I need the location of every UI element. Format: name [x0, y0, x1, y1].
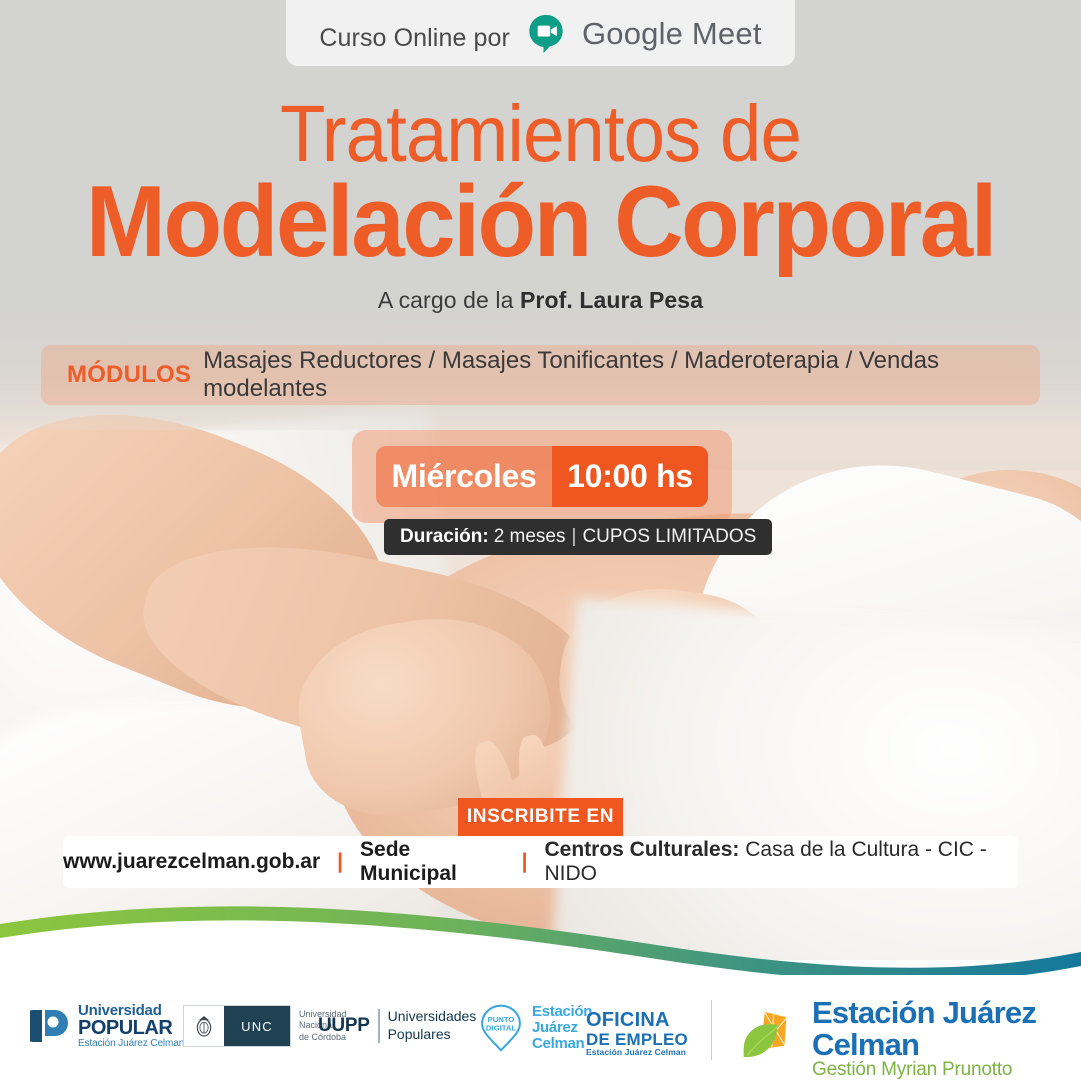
unc-acronym: UNC: [224, 1006, 290, 1046]
course-mode-label: Curso Online por: [319, 24, 510, 53]
register-cta-button[interactable]: INSCRIBITE EN: [458, 798, 623, 836]
up-line-3: Estación Juárez Celman: [78, 1039, 184, 1049]
schedule-chip: Miércoles 10:00 hs: [376, 446, 708, 507]
universidad-popular-text: Universidad POPULAR Estación Juárez Celm…: [78, 1003, 184, 1049]
pd-line-2: Juárez: [532, 1020, 592, 1036]
schedule-block: Miércoles 10:00 hs: [352, 430, 732, 523]
instructor-prefix: A cargo de la: [378, 287, 520, 313]
unc-crest-icon: [184, 1006, 224, 1046]
contact-divider-2: |: [522, 850, 528, 874]
oe-line-3: Estación Juárez Celman: [586, 1048, 688, 1057]
logo-oficina-empleo: OFICINA DE EMPLEO Estación Juárez Celman: [586, 1010, 688, 1057]
up-line-1: Universidad: [78, 1003, 184, 1018]
logo-punto-digital: PUNTO DIGITAL Estación Juárez Celman: [477, 1004, 592, 1052]
unc-box: UNC: [183, 1005, 291, 1047]
instructor-name: Prof. Laura Pesa: [520, 287, 703, 313]
centros-culturales-label: Centros Culturales:: [545, 838, 740, 861]
pd-line-3: Celman: [532, 1036, 592, 1052]
instructor-line: A cargo de la Prof. Laura Pesa: [0, 287, 1081, 314]
quota-text: CUPOS LIMITADOS: [582, 526, 756, 548]
schedule-day: Miércoles: [376, 446, 552, 507]
pd-line-1: Estación: [532, 1004, 592, 1020]
oe-line-2: DE EMPLEO: [586, 1031, 688, 1049]
uupp-line-2: Populares: [388, 1026, 477, 1044]
footer-divider: [711, 1000, 712, 1060]
logo-uupp: UUPP Universidades Populares: [318, 1008, 476, 1043]
universidad-popular-icon: [30, 1006, 70, 1046]
sede-municipal-label: Sede Municipal: [360, 838, 505, 886]
google-meet-banner: Curso Online por Google Meet: [286, 0, 795, 66]
title-line-1: Tratamientos de: [38, 96, 1043, 173]
estacion-text: Estación Juárez Celman Gestión Myrian Pr…: [812, 997, 1081, 1081]
ejc-line-2: Gestión Myrian Prunotto: [812, 1060, 1081, 1081]
svg-text:PUNTO: PUNTO: [488, 1015, 515, 1024]
logo-universidad-popular: Universidad POPULAR Estación Juárez Celm…: [30, 1003, 184, 1049]
punto-digital-text: Estación Juárez Celman: [532, 1004, 592, 1052]
punto-digital-pin-icon: PUNTO DIGITAL: [477, 1004, 525, 1052]
contact-divider-1: |: [337, 850, 343, 874]
logo-estacion-juarez-celman: Estación Juárez Celman Gestión Myrian Pr…: [736, 997, 1081, 1081]
duration-separator: |: [572, 526, 577, 548]
duration-chip: Duración:2 meses|CUPOS LIMITADOS: [384, 519, 772, 555]
centros-culturales: Centros Culturales: Casa de la Cultura -…: [545, 838, 1019, 886]
up-line-2: POPULAR: [78, 1018, 184, 1038]
google-meet-icon: [526, 13, 566, 55]
duration-label: Duración:: [400, 526, 489, 548]
uupp-line-1: Universidades: [388, 1008, 477, 1026]
modules-bar: MÓDULOS Masajes Reductores / Masajes Ton…: [41, 345, 1040, 405]
duration-value: 2 meses: [494, 526, 566, 548]
modules-list: Masajes Reductores / Masajes Tonificante…: [203, 347, 1040, 403]
title-block: Tratamientos de Modelación Corporal A ca…: [0, 96, 1081, 314]
poster-flyer: Curso Online por Google Meet Tratamiento…: [0, 0, 1081, 1081]
register-cta-label: INSCRIBITE EN: [467, 806, 614, 828]
uupp-acronym: UUPP: [318, 1015, 370, 1037]
oe-line-1: OFICINA: [586, 1010, 688, 1031]
google-meet-wordmark: Google Meet: [582, 16, 762, 52]
svg-text:DIGITAL: DIGITAL: [486, 1024, 517, 1033]
ejc-line-1: Estación Juárez Celman: [812, 997, 1081, 1060]
estacion-leaf-icon: [736, 1008, 802, 1070]
uupp-divider: [378, 1009, 380, 1043]
website-link[interactable]: www.juarezcelman.gob.ar: [63, 850, 320, 874]
title-line-2: Modelación Corporal: [27, 175, 1054, 271]
schedule-time: 10:00 hs: [552, 446, 708, 507]
uupp-text: Universidades Populares: [388, 1008, 477, 1043]
modules-label: MÓDULOS: [67, 361, 191, 389]
